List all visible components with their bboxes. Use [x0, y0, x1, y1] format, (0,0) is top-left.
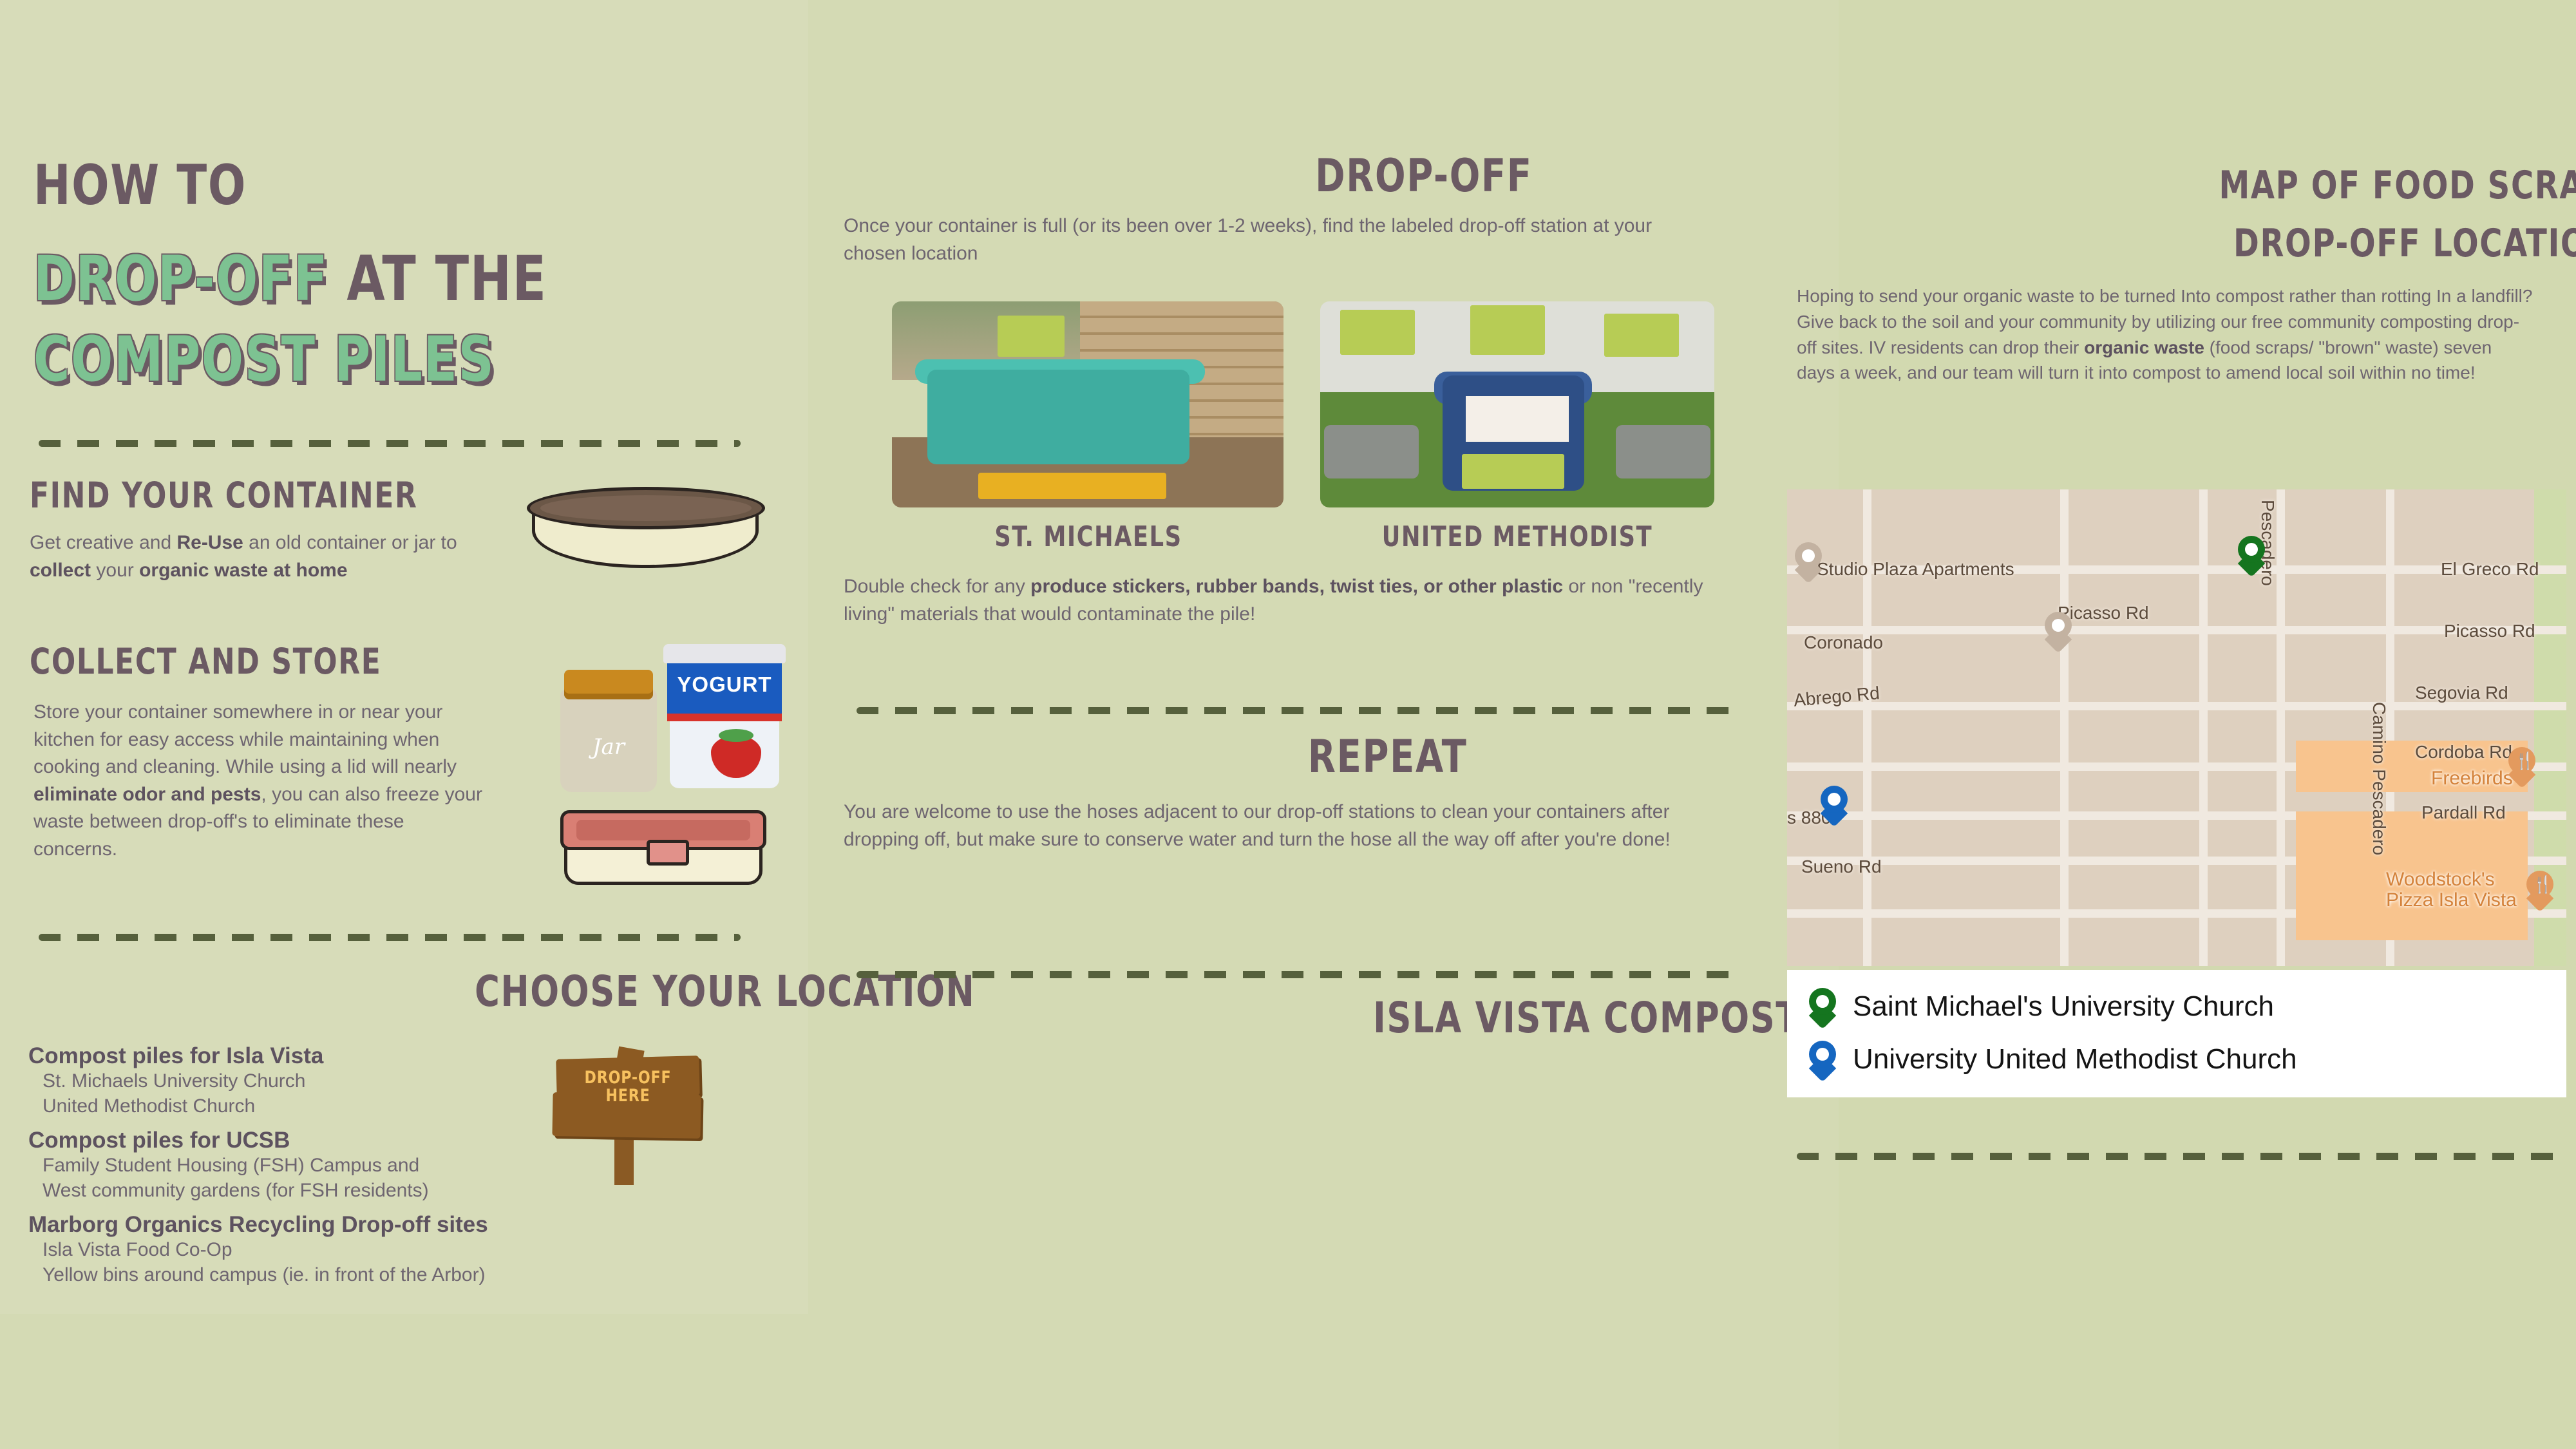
map-pin-grey-2[interactable] [2045, 612, 2072, 649]
mason-jar-illustration: Jar [560, 663, 657, 792]
page-title-green-word: DROP-OFF [33, 243, 328, 315]
legend-row-saint-michaels: Saint Michael's University Church [1809, 988, 2274, 1025]
photo-st-michaels [892, 301, 1283, 507]
map-label-picasso-rd-right: Picasso Rd [2444, 621, 2535, 641]
location-list-item: Yellow bins around campus (ie. in front … [28, 1263, 750, 1287]
page-title-line-1: HOW TO [33, 158, 247, 213]
location-list-item: Isla Vista Food Co-Op [28, 1238, 750, 1262]
map-intro-body: Hoping to send your organic waste to be … [1797, 283, 2534, 386]
food-scrap-drop-off-map[interactable]: Studio Plaza Apartments Picasso Rd Coron… [1787, 489, 2566, 966]
map-label-sueno-rd: Sueno Rd [1801, 857, 1882, 877]
jar-label: Jar [560, 734, 657, 760]
yogurt-tub-illustration: YOGURT [663, 644, 786, 792]
legend-row-united-methodist: University United Methodist Church [1809, 1041, 2297, 1078]
section-heading-drop-off: DROP-OFF [1315, 153, 1532, 198]
legend-pin-green [1809, 988, 1836, 1025]
section-heading-collect-store: COLLECT AND STORE [30, 644, 381, 679]
map-pin-restaurant-2[interactable]: 🍴 [2526, 871, 2553, 908]
map-pin-saint-michaels[interactable] [2238, 536, 2265, 573]
map-label-segovia-rd: Segovia Rd [2415, 683, 2508, 703]
divider-2 [39, 934, 741, 941]
find-container-body: Get creative and Re-Use an old container… [30, 529, 519, 584]
photo-united-methodist [1320, 301, 1714, 507]
photo-caption-united-methodist: UNITED METHODIST [1359, 523, 1675, 551]
location-group-title: Marborg Organics Recycling Drop-off site… [28, 1212, 750, 1238]
food-box-illustration [560, 810, 766, 887]
contamination-warning-body: Double check for any produce stickers, r… [844, 573, 1739, 628]
map-label-pardall-rd: Pardall Rd [2421, 802, 2506, 823]
divider-1 [39, 440, 741, 447]
divider-3 [857, 707, 1732, 714]
sign-line-1: DROP-OFF [585, 1068, 672, 1088]
map-heading-line-2: DROP-OFF LOCATIONS IN IV [2233, 224, 2576, 263]
legend-pin-blue [1809, 1041, 1836, 1078]
divider-4 [857, 971, 1732, 978]
sign-text: DROP-OFF HERE [562, 1069, 694, 1106]
map-legend: Saint Michael's University Church Univer… [1787, 970, 2566, 1097]
map-label-cordoba-rd: Cordoba Rd [2415, 742, 2512, 762]
yogurt-label: YOGURT [667, 672, 782, 697]
photo-caption-st-michaels: ST. MICHAELS [934, 523, 1243, 551]
section-heading-repeat: REPEAT [1308, 734, 1467, 779]
drop-off-here-sign-illustration: DROP-OFF HERE [547, 1043, 708, 1185]
legend-label-saint-michaels: Saint Michael's University Church [1853, 990, 2274, 1023]
map-label-camino-pescadero: Camino Pescadero [2369, 702, 2389, 855]
map-pin-united-methodist[interactable] [1821, 786, 1848, 823]
collect-store-body: Store your container somewhere in or nea… [33, 699, 484, 864]
map-pin-grey-1[interactable] [1795, 542, 1822, 580]
page-title-line-3: COMPOST PILES [33, 328, 495, 390]
map-label-coronado: Coronado [1804, 632, 1883, 653]
bowl-container-illustration [527, 487, 765, 571]
divider-5 [1797, 1153, 2557, 1160]
map-poi-woodstocks: Woodstock's Pizza Isla Vista [2386, 869, 2547, 910]
map-label-el-greco-rd: El Greco Rd [2441, 559, 2539, 580]
legend-label-united-methodist: University United Methodist Church [1853, 1043, 2297, 1075]
map-heading-line-1: MAP OF FOOD SCRAP [2219, 166, 2576, 205]
map-poi-freebirds: Freebirds [2431, 768, 2513, 790]
section-heading-find-container: FIND YOUR CONTAINER [30, 478, 417, 513]
drop-off-body: Once your container is full (or its been… [844, 213, 1687, 267]
repeat-body: You are welcome to use the hoses adjacen… [844, 799, 1739, 853]
map-pin-restaurant-1[interactable]: 🍴 [2508, 747, 2535, 784]
sign-line-2: HERE [605, 1086, 650, 1106]
map-label-studio-plaza: Studio Plaza Apartments [1817, 559, 2014, 580]
page-title-line-2-rest: AT THE [346, 243, 547, 315]
page-title-line-2: DROP-OFF AT THE [33, 248, 547, 310]
